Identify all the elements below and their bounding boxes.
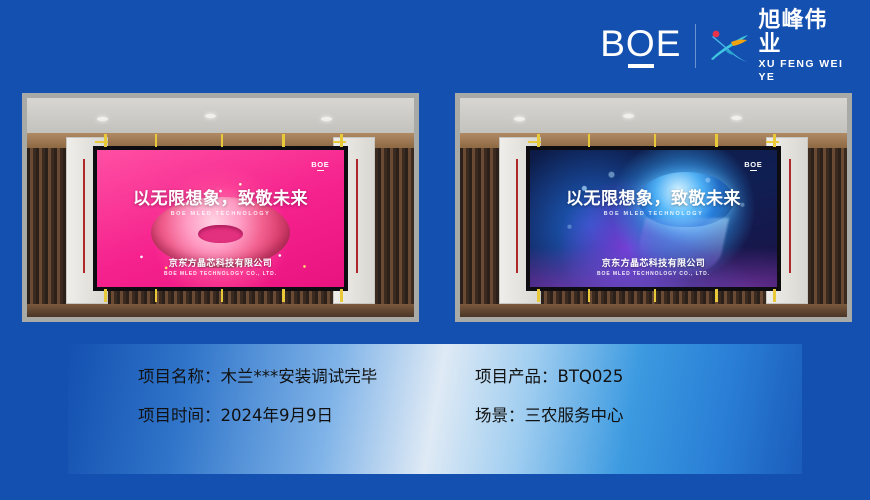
project-product-field: 项目产品： BTQ025 bbox=[475, 366, 623, 388]
ceiling-light bbox=[623, 114, 634, 118]
red-cable bbox=[356, 159, 358, 273]
led-content-blue: BOE 以无限想象，致敬未来 BOE MLED TECHNOLOGY 京东方晶芯… bbox=[530, 150, 777, 287]
xufeng-bird-icon bbox=[707, 26, 751, 66]
partner-logo: 旭峰伟业 XU FENG WEI YE bbox=[707, 9, 848, 84]
led-company-cn: 京东方晶芯科技有限公司 bbox=[97, 259, 344, 270]
tape-mark bbox=[282, 289, 285, 302]
red-cable bbox=[789, 159, 791, 273]
led-display-left: BOE 以无限想象，致敬未来 BOE MLED TECHNOLOGY 京东方晶芯… bbox=[93, 146, 348, 291]
tape-mark bbox=[773, 289, 776, 302]
ceiling bbox=[27, 98, 414, 133]
project-time-field: 项目时间： 2024年9月9日 bbox=[138, 405, 475, 427]
tape-mark bbox=[221, 134, 224, 147]
project-name-value: 木兰***安装调试完毕 bbox=[221, 366, 378, 388]
project-time-label: 项目时间： bbox=[138, 405, 221, 427]
tape-mark bbox=[282, 134, 285, 147]
tape-mark bbox=[155, 134, 158, 147]
ceiling-light bbox=[97, 117, 108, 121]
led-slogan-en: BOE MLED TECHNOLOGY bbox=[97, 211, 344, 217]
tape-mark bbox=[537, 289, 540, 302]
led-slogan-cn: 以无限想象，致敬未来 bbox=[530, 190, 777, 209]
led-company-en: BOE MLED TECHNOLOGY CO., LTD. bbox=[97, 271, 344, 277]
tape-mark bbox=[221, 289, 224, 302]
tape-mark bbox=[654, 289, 657, 302]
photo-left-scene: BOE 以无限想象，致敬未来 BOE MLED TECHNOLOGY 京东方晶芯… bbox=[27, 98, 414, 317]
led-company-en: BOE MLED TECHNOLOGY CO., LTD. bbox=[530, 271, 777, 277]
led-display-right: BOE 以无限想象，致敬未来 BOE MLED TECHNOLOGY 京东方晶芯… bbox=[526, 146, 781, 291]
ceiling-light bbox=[731, 116, 742, 120]
project-time-value: 2024年9月9日 bbox=[221, 405, 334, 427]
project-name-label: 项目名称： bbox=[138, 366, 221, 388]
boe-logo: BOE bbox=[596, 23, 686, 69]
ceiling-light bbox=[205, 114, 216, 118]
scene-value: 三农服务中心 bbox=[525, 405, 624, 427]
photo-right-scene: BOE 以无限想象，致敬未来 BOE MLED TECHNOLOGY 京东方晶芯… bbox=[460, 98, 847, 317]
project-product-value: BTQ025 bbox=[558, 366, 624, 388]
led-company: 京东方晶芯科技有限公司 BOE MLED TECHNOLOGY CO., LTD… bbox=[97, 259, 344, 277]
led-slogan-cn: 以无限想象，致敬未来 bbox=[97, 190, 344, 209]
ceiling-light bbox=[321, 117, 332, 121]
partner-logo-en: XU FENG WEI YE bbox=[758, 58, 848, 84]
ceiling bbox=[460, 98, 847, 133]
led-boe-brand-underline bbox=[317, 170, 324, 171]
partner-logo-words: 旭峰伟业 XU FENG WEI YE bbox=[758, 9, 848, 84]
led-content-pink: BOE 以无限想象，致敬未来 BOE MLED TECHNOLOGY 京东方晶芯… bbox=[97, 150, 344, 287]
led-slogan: 以无限想象，致敬未来 BOE MLED TECHNOLOGY bbox=[97, 190, 344, 217]
project-info-panel: 项目名称： 木兰***安装调试完毕 项目产品： BTQ025 项目时间： 202… bbox=[68, 344, 802, 474]
floor-strip bbox=[460, 304, 847, 317]
project-product-label: 项目产品： bbox=[475, 366, 558, 388]
led-boe-brand-text: BOE bbox=[744, 161, 762, 169]
red-cable bbox=[83, 159, 85, 273]
slide-canvas: BOE 旭峰伟业 XU FENG WEI YE bbox=[0, 0, 870, 500]
project-info-grid: 项目名称： 木兰***安装调试完毕 项目产品： BTQ025 项目时间： 202… bbox=[138, 366, 778, 444]
photo-left[interactable]: BOE 以无限想象，致敬未来 BOE MLED TECHNOLOGY 京东方晶芯… bbox=[22, 93, 419, 322]
tape-mark bbox=[588, 289, 591, 302]
boe-logo-text: BOE bbox=[600, 25, 681, 63]
red-cable bbox=[516, 159, 518, 273]
photo-right[interactable]: BOE 以无限想象，致敬未来 BOE MLED TECHNOLOGY 京东方晶芯… bbox=[455, 93, 852, 322]
project-info-row: 项目名称： 木兰***安装调试完毕 项目产品： BTQ025 bbox=[138, 366, 778, 388]
header-logo-bar: BOE 旭峰伟业 XU FENG WEI YE bbox=[596, 20, 848, 72]
scene-field: 场景： 三农服务中心 bbox=[475, 405, 624, 427]
tape-mark bbox=[715, 289, 718, 302]
tape-mark bbox=[104, 289, 107, 302]
partner-logo-cn: 旭峰伟业 bbox=[758, 9, 848, 57]
tape-mark bbox=[654, 134, 657, 147]
tape-mark bbox=[333, 141, 346, 144]
led-slogan-en: BOE MLED TECHNOLOGY bbox=[530, 211, 777, 217]
led-slogan: 以无限想象，致敬未来 BOE MLED TECHNOLOGY bbox=[530, 190, 777, 217]
project-info-row: 项目时间： 2024年9月9日 场景： 三农服务中心 bbox=[138, 405, 778, 427]
led-company: 京东方晶芯科技有限公司 BOE MLED TECHNOLOGY CO., LTD… bbox=[530, 259, 777, 277]
led-company-cn: 京东方晶芯科技有限公司 bbox=[530, 259, 777, 270]
scene-label: 场景： bbox=[475, 405, 525, 427]
tape-mark bbox=[766, 141, 779, 144]
tape-mark bbox=[340, 289, 343, 302]
led-boe-brand: BOE bbox=[744, 161, 762, 171]
logo-divider bbox=[695, 24, 697, 68]
tape-mark bbox=[155, 289, 158, 302]
led-boe-brand: BOE bbox=[311, 161, 329, 171]
tape-mark bbox=[715, 134, 718, 147]
led-boe-brand-underline bbox=[750, 170, 757, 171]
led-boe-brand-text: BOE bbox=[311, 161, 329, 169]
tape-mark bbox=[95, 141, 108, 144]
tape-mark bbox=[588, 134, 591, 147]
tape-mark bbox=[528, 141, 541, 144]
floor-strip bbox=[27, 304, 414, 317]
project-name-field: 项目名称： 木兰***安装调试完毕 bbox=[138, 366, 475, 388]
ceiling-light bbox=[514, 117, 525, 121]
boe-logo-underline bbox=[628, 64, 654, 68]
